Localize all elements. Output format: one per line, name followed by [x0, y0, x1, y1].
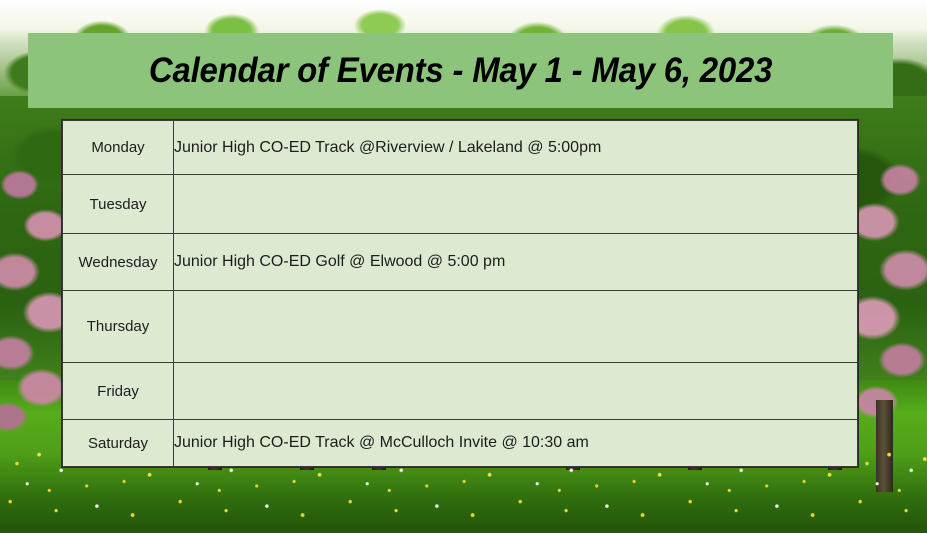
table-row: Saturday Junior High CO-ED Track @ McCul…	[63, 420, 858, 467]
calendar-flyer: Calendar of Events - May 1 - May 6, 2023…	[0, 0, 927, 533]
table-row: Friday	[63, 363, 858, 420]
page-title: Calendar of Events - May 1 - May 6, 2023	[149, 51, 772, 91]
title-banner: Calendar of Events - May 1 - May 6, 2023	[28, 33, 893, 108]
event-cell-wednesday: Junior High CO-ED Golf @ Elwood @ 5:00 p…	[174, 234, 858, 291]
day-label-saturday: Saturday	[63, 420, 174, 467]
event-cell-monday: Junior High CO-ED Track @Riverview / Lak…	[174, 121, 858, 175]
day-label-wednesday: Wednesday	[63, 234, 174, 291]
day-label-friday: Friday	[63, 363, 174, 420]
event-cell-tuesday	[174, 175, 858, 234]
event-cell-thursday	[174, 291, 858, 363]
event-cell-saturday: Junior High CO-ED Track @ McCulloch Invi…	[174, 420, 858, 467]
table-row: Thursday	[63, 291, 858, 363]
day-label-thursday: Thursday	[63, 291, 174, 363]
day-label-tuesday: Tuesday	[63, 175, 174, 234]
table-row: Monday Junior High CO-ED Track @Rivervie…	[63, 121, 858, 175]
table-row: Wednesday Junior High CO-ED Golf @ Elwoo…	[63, 234, 858, 291]
calendar-table: Monday Junior High CO-ED Track @Rivervie…	[62, 120, 858, 467]
table-row: Tuesday	[63, 175, 858, 234]
day-label-monday: Monday	[63, 121, 174, 175]
event-cell-friday	[174, 363, 858, 420]
